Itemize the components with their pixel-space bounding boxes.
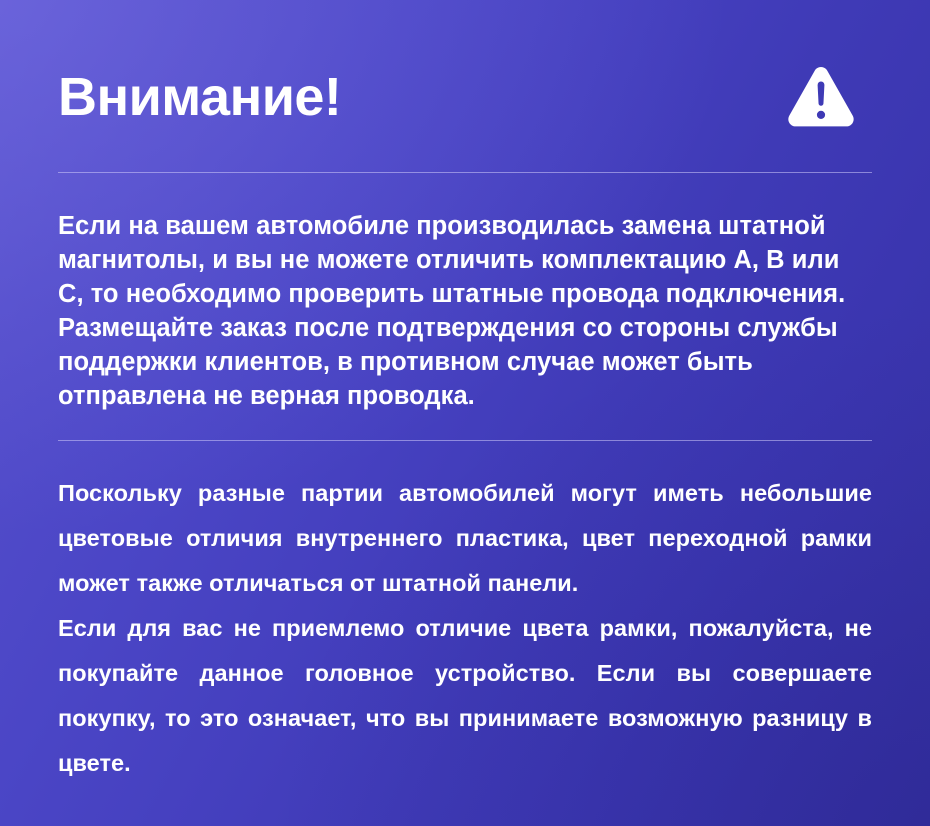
notice-paragraph: Если на вашем автомобиле производилась з… xyxy=(58,209,872,413)
notice-section-two: Поскольку разные партии автомобилей могу… xyxy=(58,471,872,786)
page-title: Внимание! xyxy=(58,69,341,126)
card-content: Внимание! Если на вашем автомобиле произ… xyxy=(0,0,930,786)
notice-paragraph: Поскольку разные партии автомобилей могу… xyxy=(58,471,872,606)
warning-triangle-icon xyxy=(788,67,854,127)
divider-top xyxy=(58,172,872,173)
card-header: Внимание! xyxy=(58,0,872,140)
divider-middle xyxy=(58,440,872,441)
notice-paragraph: Если для вас не приемлемо отличие цвета … xyxy=(58,606,872,786)
warning-notice-card: Внимание! Если на вашем автомобиле произ… xyxy=(0,0,930,826)
notice-section-one: Если на вашем автомобиле производилась з… xyxy=(58,209,872,413)
